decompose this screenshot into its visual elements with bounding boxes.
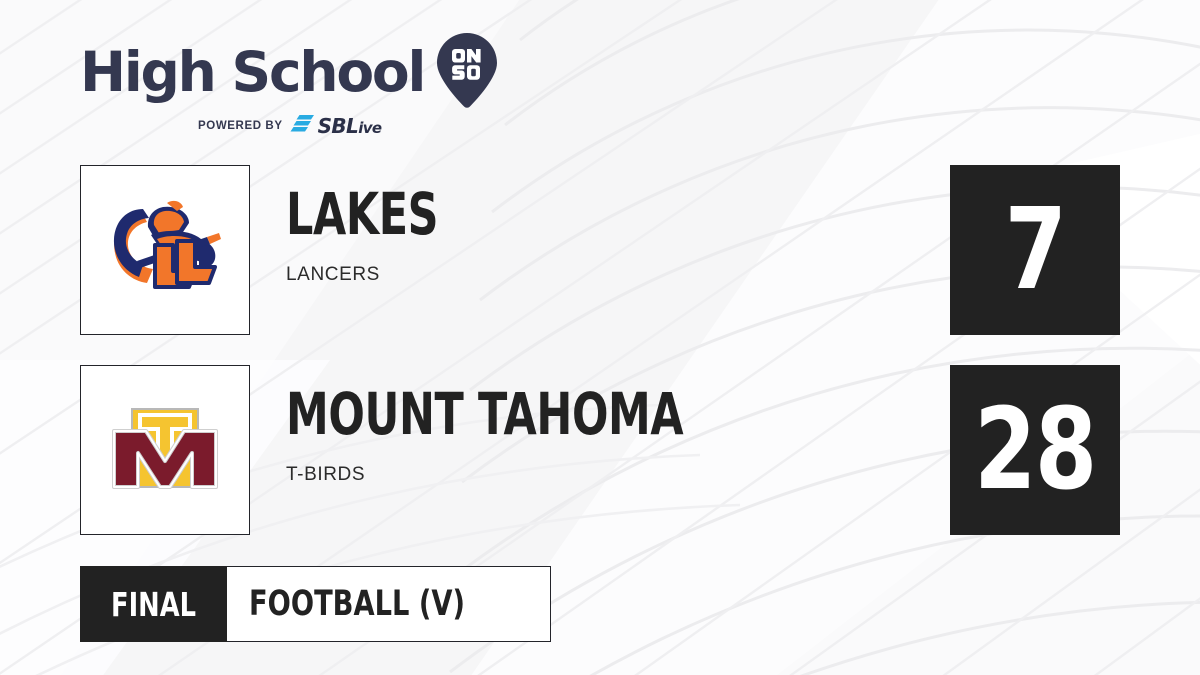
team-score: 28 [974, 394, 1095, 506]
on-si-pin-icon [436, 32, 498, 108]
sblive-wordmark: SBLive [318, 116, 382, 136]
status-badge: FINAL [80, 566, 227, 642]
sblive-logo: SBLive [290, 114, 382, 138]
page-title: High School [80, 45, 424, 100]
team-logo-box [80, 365, 250, 535]
brand-title-row: High School [80, 36, 510, 108]
team-score-box: 7 [950, 165, 1120, 335]
team-logo-box [80, 165, 250, 335]
team-mascot: T-BIRDS [286, 464, 823, 486]
team-score-box: 28 [950, 365, 1120, 535]
lakes-lancers-logo-icon [103, 195, 227, 305]
team-mascot: LANCERS [286, 264, 492, 286]
team-score: 7 [1005, 194, 1066, 306]
game-status-bar: FINAL FOOTBALL (V) [80, 566, 551, 642]
powered-by-label: POWERED BY [198, 120, 283, 132]
sport-label-box: FOOTBALL (V) [227, 566, 551, 642]
sport-label: FOOTBALL (V) [249, 584, 465, 624]
sblive-mark-icon [290, 114, 316, 138]
team-text: MOUNT TAHOMA T-BIRDS [286, 387, 823, 486]
powered-by-row: POWERED BY SBLive [198, 114, 510, 138]
team-text: LAKES LANCERS [286, 187, 492, 286]
team-name: LAKES [286, 187, 438, 242]
team-name: MOUNT TAHOMA [286, 387, 683, 442]
status-badge-label: FINAL [111, 585, 196, 624]
mount-tahoma-logo-icon [106, 395, 224, 505]
brand-header: High School POWERED BY [80, 36, 510, 138]
